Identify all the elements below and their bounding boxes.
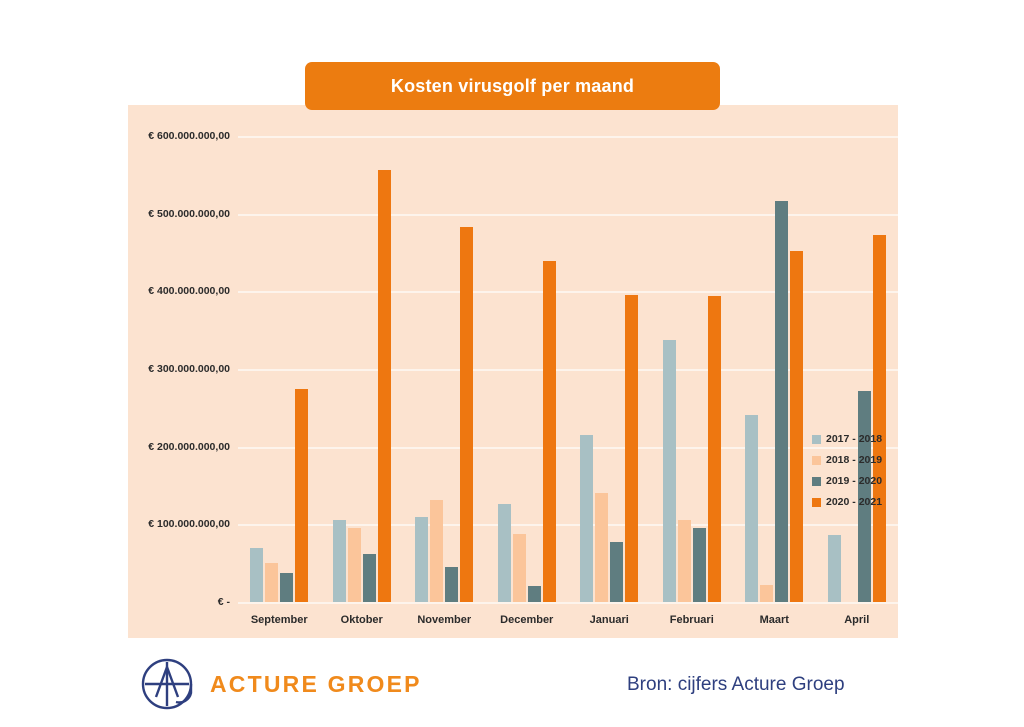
bar[interactable] <box>693 528 706 602</box>
source-note: Bron: cijfers Acture Groep <box>627 674 845 696</box>
x-axis-tick-label: Maart <box>733 614 816 626</box>
y-axis-tick-label: € 400.000.000,00 <box>148 285 230 297</box>
plot-area: SeptemberOktoberNovemberDecemberJanuariF… <box>238 136 898 602</box>
legend-swatch-icon <box>812 435 821 444</box>
bar[interactable] <box>250 548 263 602</box>
bar[interactable] <box>348 528 361 602</box>
x-axis-tick-label: April <box>816 614 899 626</box>
bar-groups: SeptemberOktoberNovemberDecemberJanuariF… <box>238 136 898 602</box>
bar[interactable] <box>333 520 346 602</box>
bar[interactable] <box>363 554 376 602</box>
acture-groep-logo: ACTURE GROEP <box>140 657 422 711</box>
x-axis-tick-label: Februari <box>651 614 734 626</box>
bar[interactable] <box>760 585 773 602</box>
legend-swatch-icon <box>812 477 821 486</box>
bar[interactable] <box>678 520 691 602</box>
legend-label: 2018 - 2019 <box>826 454 882 466</box>
bar-group: Januari <box>568 136 651 602</box>
bar[interactable] <box>873 235 886 602</box>
bar[interactable] <box>775 201 788 602</box>
legend-label: 2017 - 2018 <box>826 433 882 445</box>
legend-item[interactable]: 2018 - 2019 <box>812 454 894 466</box>
bar[interactable] <box>625 295 638 602</box>
page-title: Kosten virusgolf per maand <box>391 76 634 97</box>
legend-label: 2020 - 2021 <box>826 496 882 508</box>
x-axis-tick-label: Oktober <box>321 614 404 626</box>
legend-item[interactable]: 2020 - 2021 <box>812 496 894 508</box>
bar[interactable] <box>528 586 541 602</box>
bar[interactable] <box>378 170 391 602</box>
y-axis-tick-label: € 100.000.000,00 <box>148 518 230 530</box>
legend-item[interactable]: 2017 - 2018 <box>812 433 894 445</box>
bar[interactable] <box>663 340 676 603</box>
legend-swatch-icon <box>812 498 821 507</box>
bar[interactable] <box>445 567 458 602</box>
bar-group: November <box>403 136 486 602</box>
x-axis-tick-label: Januari <box>568 614 651 626</box>
bar[interactable] <box>295 389 308 602</box>
bar[interactable] <box>460 227 473 602</box>
bar[interactable] <box>580 435 593 602</box>
bar-group: Februari <box>651 136 734 602</box>
bar-group: April <box>816 136 899 602</box>
bar[interactable] <box>595 493 608 602</box>
bar[interactable] <box>610 542 623 602</box>
bar[interactable] <box>498 504 511 602</box>
x-axis-tick-label: December <box>486 614 569 626</box>
bar-group: December <box>486 136 569 602</box>
bar[interactable] <box>745 415 758 602</box>
bar-group: September <box>238 136 321 602</box>
y-axis-tick-label: € - <box>218 596 230 608</box>
y-axis: € 600.000.000,00€ 500.000.000,00€ 400.00… <box>128 136 238 602</box>
logo-wordmark: ACTURE GROEP <box>210 671 422 698</box>
bar[interactable] <box>708 296 721 602</box>
chart-panel: € 600.000.000,00€ 500.000.000,00€ 400.00… <box>128 105 898 638</box>
bar-group: Oktober <box>321 136 404 602</box>
x-axis-tick-label: November <box>403 614 486 626</box>
y-axis-tick-label: € 500.000.000,00 <box>148 208 230 220</box>
chart-title-badge: Kosten virusgolf per maand <box>305 62 720 110</box>
bar[interactable] <box>280 573 293 602</box>
bar[interactable] <box>790 251 803 602</box>
bar[interactable] <box>543 261 556 602</box>
acture-ag-monogram-icon <box>140 657 194 711</box>
bar[interactable] <box>513 534 526 602</box>
chart-legend: 2017 - 20182018 - 20192019 - 20202020 - … <box>812 433 894 517</box>
legend-label: 2019 - 2020 <box>826 475 882 487</box>
bar[interactable] <box>265 563 278 602</box>
gridline <box>238 602 898 604</box>
bar[interactable] <box>828 535 841 602</box>
y-axis-tick-label: € 300.000.000,00 <box>148 363 230 375</box>
x-axis-tick-label: September <box>238 614 321 626</box>
legend-swatch-icon <box>812 456 821 465</box>
bar[interactable] <box>415 517 428 602</box>
y-axis-tick-label: € 200.000.000,00 <box>148 441 230 453</box>
y-axis-tick-label: € 600.000.000,00 <box>148 130 230 142</box>
legend-item[interactable]: 2019 - 2020 <box>812 475 894 487</box>
bar-group: Maart <box>733 136 816 602</box>
bar[interactable] <box>430 500 443 602</box>
